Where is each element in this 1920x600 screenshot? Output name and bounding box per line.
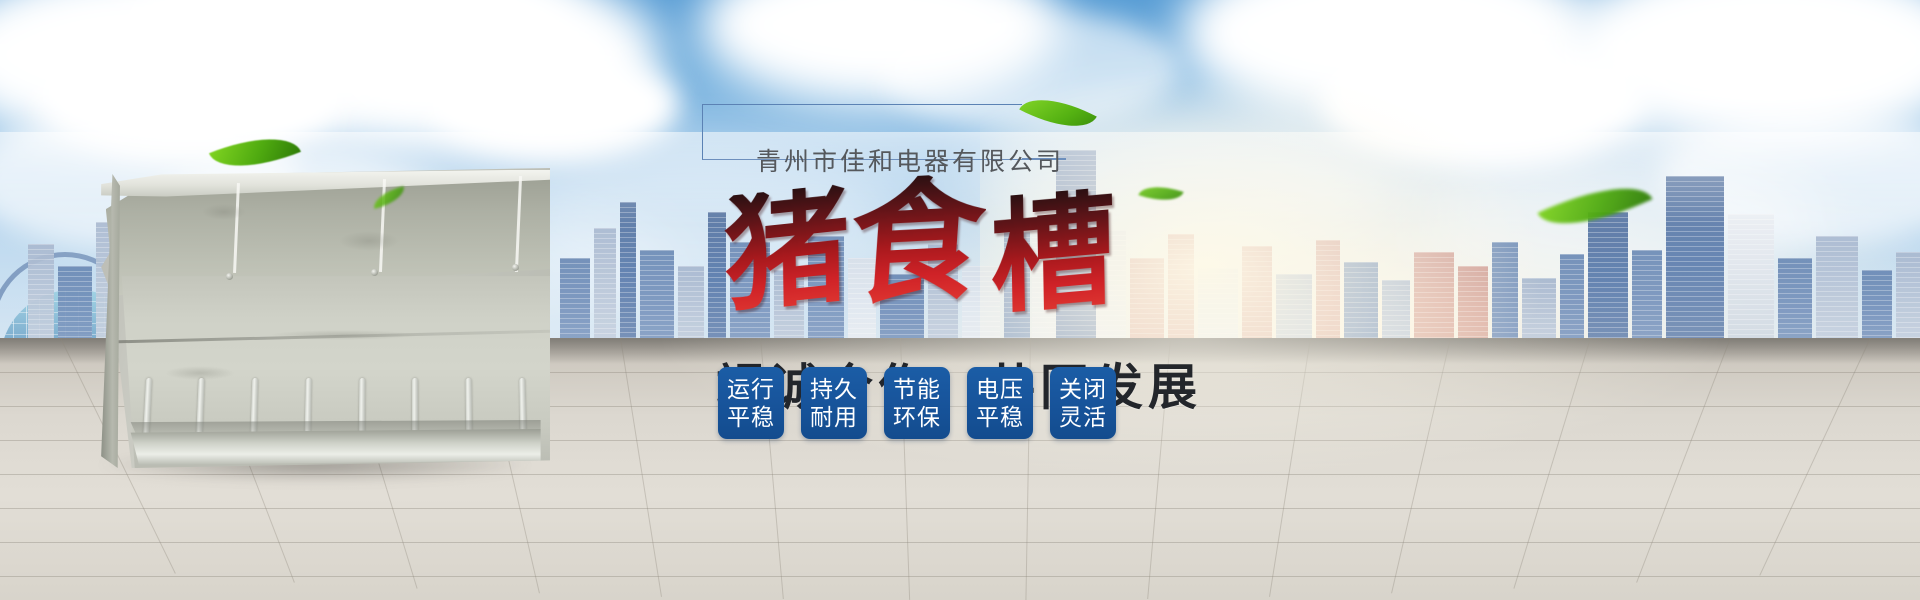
feeder-trough-floor: [122, 429, 540, 465]
surface-smudge: [339, 231, 399, 251]
badge-line-1: 持久: [810, 375, 858, 403]
feature-badge-5[interactable]: 关闭 灵活: [1050, 367, 1116, 439]
feeder-bolt: [371, 269, 378, 276]
product-image-pig-feeder: [80, 168, 550, 468]
badge-line-2: 平稳: [727, 403, 775, 431]
badge-line-2: 平稳: [976, 403, 1024, 431]
surface-smudge: [268, 330, 418, 340]
feeder-bolt: [226, 273, 233, 280]
banner-copy-block: 青州市佳和电器有限公司 猪 食 槽 竭诚合作，共同发展: [700, 96, 1420, 336]
feature-badge-3[interactable]: 节能 环保: [884, 367, 950, 439]
feature-badge-1[interactable]: 运行 平稳: [718, 367, 784, 439]
badge-line-2: 灵活: [1059, 403, 1107, 431]
badge-line-1: 运行: [727, 375, 775, 403]
company-name-row: 青州市佳和电器有限公司: [700, 96, 1420, 172]
feature-badge-2[interactable]: 持久 耐用: [801, 367, 867, 439]
headline-char-1: 猪: [723, 183, 851, 323]
headline-title: 猪 食 槽: [700, 176, 1420, 336]
headline-char-2: 食: [845, 172, 988, 314]
feature-badge-list: 运行 平稳 持久 耐用 节能 环保 电压 平稳 关闭 灵活: [718, 367, 1116, 439]
surface-smudge: [202, 204, 246, 220]
badge-line-1: 关闭: [1059, 375, 1107, 403]
badge-line-2: 耐用: [810, 403, 858, 431]
promotional-banner: 青州市佳和电器有限公司 猪 食 槽 竭诚合作，共同发展 运行 平稳 持久 耐用 …: [0, 0, 1920, 600]
badge-line-1: 节能: [893, 375, 941, 403]
feature-badge-4[interactable]: 电压 平稳: [967, 367, 1033, 439]
headline-char-3: 槽: [989, 186, 1117, 323]
badge-line-1: 电压: [976, 375, 1024, 403]
badge-line-2: 环保: [893, 403, 941, 431]
